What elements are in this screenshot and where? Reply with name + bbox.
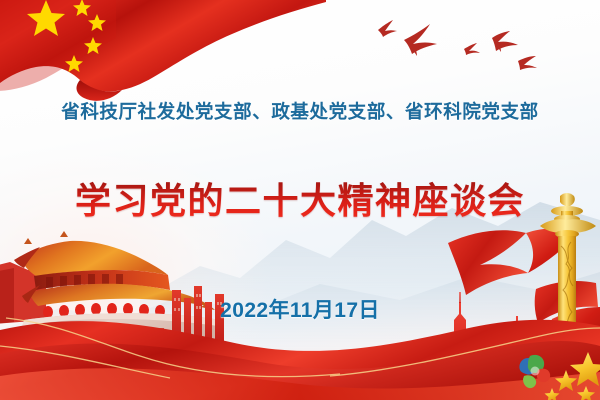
flying-birds-icon	[360, 8, 550, 88]
gold-stars-icon	[545, 352, 600, 400]
organization-line: 省科技厅社发处党支部、政基处党支部、省环科院党支部	[0, 98, 600, 124]
page-title: 学习党的二十大精神座谈会	[0, 172, 600, 224]
event-date: 2022年11月17日	[0, 294, 600, 324]
chinese-flag-icon	[0, 0, 326, 112]
brand-cluster	[516, 348, 600, 400]
org-logo-icon	[519, 355, 550, 388]
poster-canvas: 省科技厅社发处党支部、政基处党支部、省环科院党支部 学习党的二十大精神座谈会 学…	[0, 0, 600, 400]
